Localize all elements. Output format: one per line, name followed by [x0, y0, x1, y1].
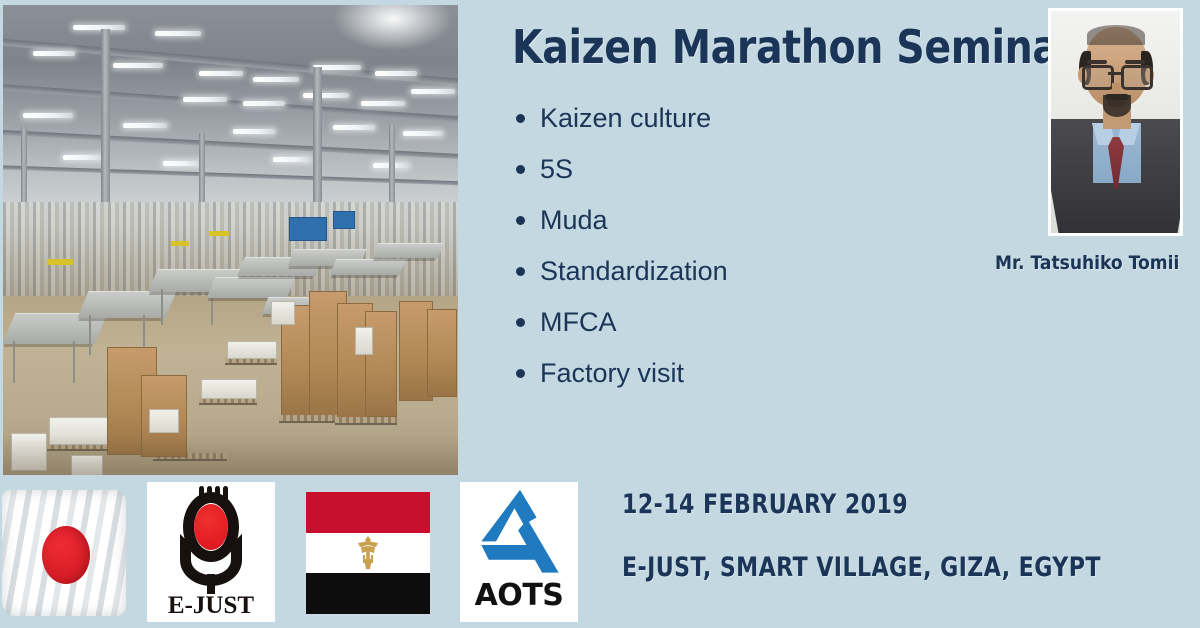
- aots-wordmark: AOTS: [460, 578, 578, 613]
- topics-list: Kaizen culture 5S Muda Standardization M…: [510, 105, 728, 411]
- topic-label: MFCA: [540, 307, 617, 337]
- photo-ceiling-light: [253, 77, 299, 82]
- egypt-flag-body: [305, 491, 431, 615]
- photo-ceiling-light: [375, 71, 417, 76]
- list-item: Standardization: [510, 258, 728, 285]
- photo-ceiling-light: [155, 31, 201, 36]
- portrait-eyebrow-left: [1087, 60, 1107, 64]
- portrait-hair-top: [1087, 25, 1145, 45]
- bullet-dot-icon: [516, 114, 525, 123]
- photo-table-leg: [89, 315, 91, 355]
- bullet-dot-icon: [516, 369, 525, 378]
- photo-box: [427, 309, 457, 397]
- topic-label: Factory visit: [540, 358, 684, 388]
- egypt-flag-icon: [300, 482, 436, 622]
- ejust-stem-icon: [207, 574, 215, 594]
- photo-box: [355, 327, 373, 355]
- seminar-banner: Kaizen Marathon Seminar Kaizen culture 5…: [0, 0, 1200, 628]
- photo-work-table: [207, 277, 295, 298]
- topic-label: Standardization: [540, 256, 728, 286]
- ejust-logo-icon: E-JUST: [147, 482, 275, 622]
- photo-ceiling-light: [63, 155, 103, 160]
- photo-table-leg: [13, 341, 15, 383]
- photo-ceiling-light: [123, 123, 167, 128]
- photo-ceiling-light: [333, 125, 375, 130]
- topic-label: Kaizen culture: [540, 103, 711, 133]
- photo-box: [227, 341, 277, 359]
- photo-skylight-glow: [333, 5, 453, 51]
- list-item: MFCA: [510, 309, 728, 336]
- bullet-dot-icon: [516, 318, 525, 327]
- event-dates: 12-14 FEBRUARY 2019: [622, 489, 908, 520]
- logo-strip: E-JUST: [0, 482, 580, 628]
- photo-ceiling-light: [113, 63, 163, 68]
- factory-interior-photo: [3, 5, 458, 475]
- portrait-eyebrow-right: [1125, 60, 1145, 64]
- speaker-name: Mr. Tatsuhiko Tomii: [995, 252, 1175, 274]
- photo-work-table: [372, 243, 444, 258]
- photo-yellow-marking: [47, 259, 73, 265]
- photo-ceiling-light: [199, 71, 243, 76]
- photo-blue-equipment: [333, 211, 355, 229]
- photo-ceiling-light: [33, 51, 75, 56]
- photo-ceiling-light: [183, 97, 227, 102]
- portrait-mustache: [1105, 94, 1129, 100]
- japan-flag-sun: [42, 526, 90, 584]
- photo-ceiling-light: [403, 131, 443, 136]
- portrait-lens-right: [1121, 65, 1153, 90]
- bullet-dot-icon: [516, 165, 525, 174]
- photo-ceiling-light: [243, 101, 285, 106]
- egypt-flag-black-band: [306, 573, 430, 614]
- event-venue: E-JUST, SMART VILLAGE, GIZA, EGYPT: [622, 552, 1101, 583]
- egypt-eagle-icon: [355, 535, 381, 571]
- list-item: Factory visit: [510, 360, 728, 387]
- egypt-flag-red-band: [306, 492, 430, 533]
- photo-box: [201, 379, 257, 399]
- photo-ceiling-light: [233, 129, 275, 134]
- photo-ceiling-light: [303, 93, 349, 98]
- photo-pallet: [335, 417, 397, 425]
- aots-mark-icon: [474, 488, 566, 580]
- portrait-lens-left: [1082, 65, 1114, 90]
- list-item: 5S: [510, 156, 728, 183]
- photo-ceiling-light: [361, 101, 405, 106]
- photo-ceiling-light: [73, 25, 125, 30]
- photo-yellow-marking: [171, 241, 189, 246]
- list-item: Kaizen culture: [510, 105, 728, 132]
- photo-work-table: [330, 259, 406, 275]
- photo-table-leg: [161, 289, 163, 325]
- topic-label: 5S: [540, 154, 573, 184]
- ejust-wordmark: E-JUST: [147, 592, 275, 620]
- photo-ceiling-light: [411, 89, 455, 94]
- japan-flag-icon: [0, 482, 128, 622]
- bullet-dot-icon: [516, 216, 525, 225]
- photo-table-leg: [73, 341, 75, 383]
- aots-logo-icon: AOTS: [460, 482, 578, 622]
- photo-box: [149, 409, 179, 433]
- topic-label: Muda: [540, 205, 608, 235]
- photo-blue-equipment: [289, 217, 327, 241]
- photo-ceiling-light: [163, 161, 201, 166]
- photo-ceiling-light: [23, 113, 73, 118]
- photo-ceiling-light: [273, 157, 311, 162]
- bullet-dot-icon: [516, 267, 525, 276]
- portrait-eyeglasses: [1082, 65, 1150, 84]
- list-item: Muda: [510, 207, 728, 234]
- photo-box: [271, 301, 295, 325]
- speaker-portrait-photo: [1051, 11, 1180, 233]
- page-title: Kaizen Marathon Seminar: [512, 20, 1078, 74]
- portrait-glasses-bridge: [1108, 72, 1121, 75]
- speaker-photo-frame: [1048, 8, 1183, 236]
- photo-yellow-marking: [209, 231, 229, 236]
- photo-floor-shadow: [3, 435, 458, 475]
